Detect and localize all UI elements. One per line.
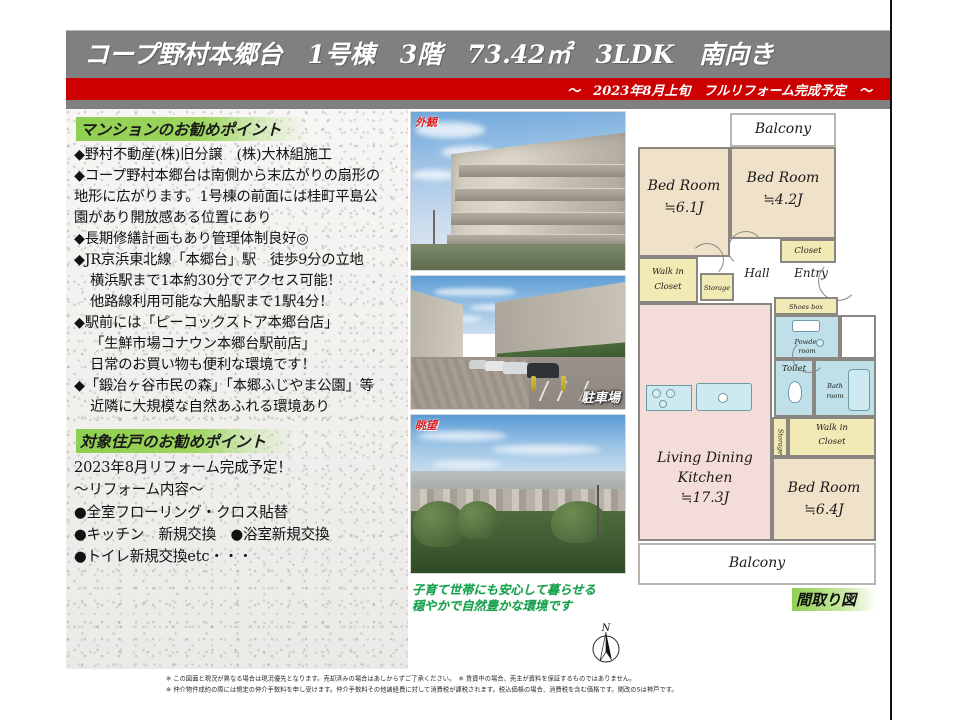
entry-door-arc-icon <box>818 261 858 301</box>
building-point-line: 園があり開放感ある位置にあり <box>74 208 402 229</box>
parked-car <box>503 362 529 374</box>
unit-point-line: ●キッチン 新規交換 ●浴室新規交換 <box>74 524 402 546</box>
room-walkin-closet-left: Walk in Closet <box>638 257 698 303</box>
building-point-line: ◆JR京浜東北線「本郷台」駅 徒歩9分の立地 <box>74 250 402 271</box>
door-arc-icon <box>728 231 764 267</box>
photo-exterior: 外観 <box>410 111 626 271</box>
photo-column: 外観 <box>408 109 628 669</box>
room-bedroom-4-2: Bed Room ≒4.2J <box>730 147 836 239</box>
header-bar: コープ野村本郷台 1号棟 3階 73.42㎡ 3LDK 南向き <box>66 30 890 78</box>
building-point-line: ◆野村不動産(株)旧分譲 (株)大林組施工 <box>74 145 402 166</box>
photo-tag-exterior: 外観 <box>415 114 437 130</box>
scan-edge-line <box>890 0 892 720</box>
door-arc-icon <box>792 339 826 373</box>
burner-icon <box>666 389 675 398</box>
photo-view: 眺望 <box>410 414 626 574</box>
section-heading-unit: 対象住戸のお勧めポイント <box>76 429 292 453</box>
room-storage-mid: Storage <box>772 417 788 457</box>
unit-point-line: 2023年8月リフォーム完成予定！ <box>74 457 402 479</box>
footer-disclaimer: ※ この図面と現況が異なる場合は現況優先となります。売却済みの場合はあしからずご… <box>66 669 890 709</box>
bollard <box>561 376 566 391</box>
building-point-line: 「生鮮市場コナウン本郷台駅前店」 <box>74 334 402 355</box>
building-point-line: 他路線利用可能な大船駅まで1駅4分！ <box>74 292 402 313</box>
balcony-band <box>451 212 626 225</box>
header-gray-gap <box>66 100 890 109</box>
building-point-line: ◆長期修繕計画もあり管理体制良好◎ <box>74 229 402 250</box>
unit-points-list: 2023年8月リフォーム完成予定！～リフォーム内容～●全室フローリング・クロス貼… <box>74 457 402 568</box>
photo-parking: 駐車場 <box>410 275 626 410</box>
room-ldk: Living Dining Kitchen ≒17.3J <box>638 303 772 541</box>
flyer-page: コープ野村本郷台 1号棟 3階 73.42㎡ 3LDK 南向き ～ 2023年8… <box>0 0 960 720</box>
sink-drain-icon <box>718 393 728 403</box>
cloud-shape <box>431 461 501 468</box>
tree-shape <box>457 501 499 539</box>
ground-hedge <box>411 244 625 270</box>
building-point-line: ◆「鍛冶ヶ谷市民の森」「本郷ふじやま公園」等 <box>74 376 402 397</box>
floorplan-drawing: Balcony Bed Room ≒6.1J Bed Room ≒4.2J <box>632 111 882 621</box>
building-point-line: 日常のお買い物も便利な環境です！ <box>74 355 402 376</box>
balcony-band <box>455 188 626 201</box>
building-point-line: 横浜駅まで1本約30分でアクセス可能！ <box>74 271 402 292</box>
room-balcony-bottom: Balcony <box>638 543 876 585</box>
photo-tag-parking: 駐車場 <box>581 387 620 406</box>
main-content: マンションのお勧めポイント ◆野村不動産(株)旧分譲 (株)大林組施工◆コープ野… <box>66 109 890 669</box>
building-point-line: ◆駅前には「ピーコックストア本郷台店」 <box>74 313 402 334</box>
room-bath: Bath room <box>814 359 876 417</box>
compass-north-icon: N <box>586 621 626 667</box>
caption-line-1: 子育て世帯にも安心して暮らせる <box>412 582 626 598</box>
header-subtitle-bar: ～ 2023年8月上旬 フルリフォーム完成予定 ～ <box>66 78 890 100</box>
room-walkin-closet-right: Walk in Closet <box>788 417 876 457</box>
cloud-shape <box>491 445 601 454</box>
room-bedroom-6-1: Bed Room ≒6.1J <box>638 147 730 257</box>
unit-point-line: ～リフォーム内容～ <box>74 479 402 501</box>
toilet-fixture-icon <box>788 381 802 403</box>
header-subtitle: ～ 2023年8月上旬 フルリフォーム完成予定 ～ <box>567 80 872 99</box>
photo-caption: 子育て世帯にも安心して暮らせる 穏やかで自然豊かな環境です <box>410 582 626 615</box>
disclaimer-line-1: ※ この図面と現況が異なる場合は現況優先となります。売却済みの場合はあしからずご… <box>166 674 876 685</box>
building-point-line: ◆コープ野村本郷台は南側から末広がりの扇形の <box>74 166 402 187</box>
section-heading-building: マンションのお勧めポイント <box>76 117 308 141</box>
bollard <box>531 376 536 391</box>
floorplan-column: Balcony Bed Room ≒6.1J Bed Room ≒4.2J <box>628 109 890 669</box>
page-title: コープ野村本郷台 1号棟 3階 73.42㎡ 3LDK 南向き <box>84 35 774 71</box>
cloud-shape <box>435 288 515 296</box>
disclaimer-line-2: ※ 仲介物件成約の際には規定の仲介手数料を申し受けます。仲介手数料その他諸経費に… <box>166 685 876 696</box>
section-unit: 対象住戸のお勧めポイント 2023年8月リフォーム完成予定！～リフォーム内容～●… <box>74 427 402 568</box>
bathtub-fixture-icon <box>848 369 870 411</box>
room-storage-left: Storage <box>700 273 734 301</box>
floorplan-caption: 間取り図 <box>792 588 876 611</box>
burner-icon <box>659 400 667 408</box>
room-closet-top: Closet <box>780 239 836 263</box>
building-point-line: 近隣に大規模な自然あふれる環境あり <box>74 397 402 418</box>
unit-point-line: ●トイレ新規交換etc・・・ <box>74 546 402 568</box>
unit-point-line: ●全室フローリング・クロス貼替 <box>74 502 402 524</box>
building-point-line: 地形に広がります。1号棟の前面には桂町平島公 <box>74 187 402 208</box>
room-shoes-box: Shoes box <box>774 297 838 315</box>
antenna-pole <box>597 485 599 539</box>
selling-points-panel: マンションのお勧めポイント ◆野村不動産(株)旧分譲 (株)大林組施工◆コープ野… <box>66 109 408 669</box>
room-balcony-top: Balcony <box>730 113 836 147</box>
burner-icon <box>652 389 661 398</box>
sink-fixture-icon <box>792 320 820 332</box>
room-bedroom-6-4: Bed Room ≒6.4J <box>772 457 876 541</box>
building-points-list: ◆野村不動産(株)旧分譲 (株)大林組施工◆コープ野村本郷台は南側から末広がりの… <box>74 145 402 418</box>
room-utility-niche <box>840 315 876 359</box>
flyer-sheet: コープ野村本郷台 1号棟 3階 73.42㎡ 3LDK 南向き ～ 2023年8… <box>66 30 890 710</box>
balcony-band <box>459 164 626 177</box>
photo-tag-view: 眺望 <box>415 417 437 433</box>
caption-line-2: 穏やかで自然豊かな環境です <box>412 598 626 614</box>
